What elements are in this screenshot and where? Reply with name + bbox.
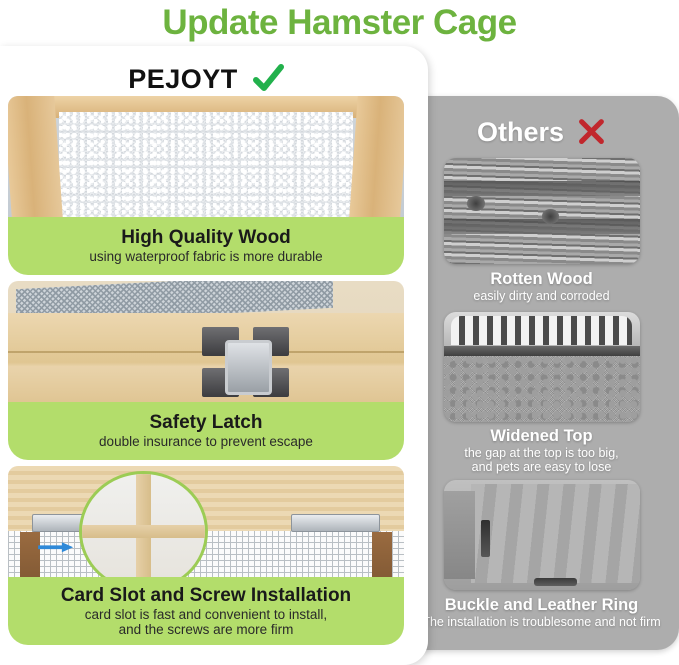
page-title: Update Hamster Cage xyxy=(0,0,679,46)
other-caption-widened-top: Widened Top the gap at the top is too bi… xyxy=(404,427,679,474)
other-photo-rotten-wood xyxy=(444,158,640,264)
others-label: Others xyxy=(477,117,564,148)
feature-card-slot-screw-installation: Card Slot and Screw Installation card sl… xyxy=(8,466,404,651)
other-photo-buckle xyxy=(444,480,640,590)
other-photo-widened-top xyxy=(444,312,640,422)
zoom-inset-circle xyxy=(79,471,208,591)
other-caption-buckle: Buckle and Leather Ring The installation… xyxy=(404,596,679,629)
feature-banner-2: Safety Latch double insurance to prevent… xyxy=(8,402,404,460)
feature-title: Safety Latch xyxy=(150,412,263,434)
brand-card: PEJOYT High Quality Wood using waterproo… xyxy=(0,46,428,665)
other-title: Buckle and Leather Ring xyxy=(404,596,679,615)
other-title: Rotten Wood xyxy=(404,270,679,289)
other-title: Widened Top xyxy=(404,427,679,446)
feature-banner-1: High Quality Wood using waterproof fabri… xyxy=(8,217,404,275)
brand-name: PEJOYT xyxy=(128,64,238,95)
others-panel: Others Rotten Wood easily dirty and corr… xyxy=(404,96,679,650)
feature-safety-latch: Safety Latch double insurance to prevent… xyxy=(8,281,404,461)
check-icon xyxy=(252,63,284,95)
other-subtitle-line2: and pets are easy to lose xyxy=(404,460,679,474)
other-caption-rotten-wood: Rotten Wood easily dirty and corroded xyxy=(404,270,679,303)
other-subtitle: easily dirty and corroded xyxy=(404,289,679,303)
feature-subtitle-line2: and the screws are more firm xyxy=(119,622,294,638)
feature-title: Card Slot and Screw Installation xyxy=(61,585,351,607)
feature-high-quality-wood: High Quality Wood using waterproof fabri… xyxy=(8,96,404,276)
infographic-page: Update Hamster Cage Others Rotten Wood e… xyxy=(0,0,679,665)
x-mark-icon xyxy=(576,117,606,147)
other-subtitle-line1: the gap at the top is too big, xyxy=(404,446,679,460)
feature-photo-card-slot xyxy=(8,466,404,591)
feature-photo-wood-tray xyxy=(8,96,404,231)
brand-header: PEJOYT xyxy=(0,58,412,100)
feature-title: High Quality Wood xyxy=(121,227,291,249)
feature-subtitle: double insurance to prevent escape xyxy=(99,434,313,450)
feature-subtitle: using waterproof fabric is more durable xyxy=(89,249,322,265)
feature-subtitle-line1: card slot is fast and convenient to inst… xyxy=(85,607,327,623)
others-header: Others xyxy=(404,110,679,154)
other-subtitle: The installation is troublesome and not … xyxy=(404,615,679,629)
feature-photo-latch xyxy=(8,281,404,416)
feature-banner-3: Card Slot and Screw Installation card sl… xyxy=(8,577,404,645)
